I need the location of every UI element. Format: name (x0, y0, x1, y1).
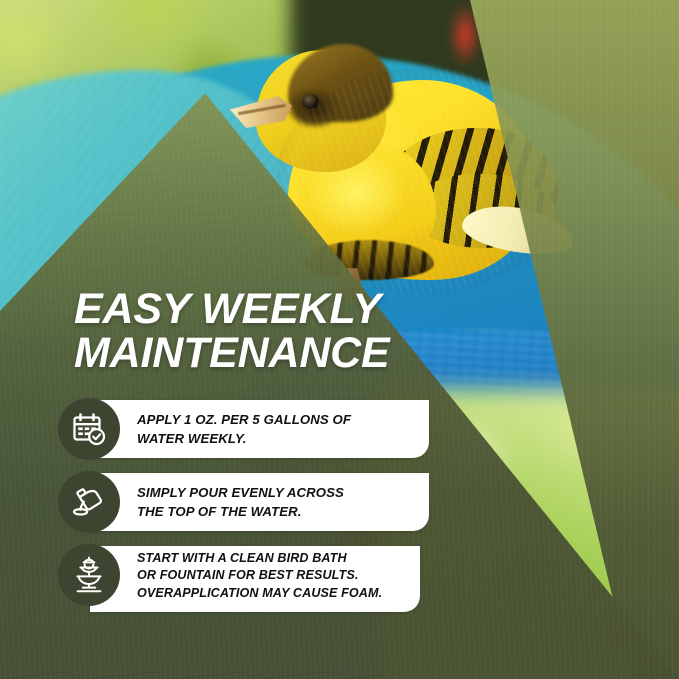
instruction-steps-list: APPLY 1 OZ. PER 5 GALLONS OF WATER WEEKL… (58, 400, 398, 606)
bird-eye (302, 94, 319, 109)
page-title: EASY WEEKLY MAINTENANCE (74, 287, 454, 376)
list-item: START WITH A CLEAN BIRD BATH OR FOUNTAIN… (58, 546, 398, 606)
pouring-bottle-icon (58, 471, 120, 533)
step-text: APPLY 1 OZ. PER 5 GALLONS OF WATER WEEKL… (137, 411, 351, 448)
bird-bath-fountain-icon (58, 544, 120, 606)
list-item: APPLY 1 OZ. PER 5 GALLONS OF WATER WEEKL… (58, 400, 398, 460)
step-text: SIMPLY POUR EVENLY ACROSS THE TOP OF THE… (137, 484, 344, 521)
step-text: START WITH A CLEAN BIRD BATH OR FOUNTAIN… (137, 550, 382, 602)
calendar-check-icon (58, 398, 120, 460)
product-feature-poster: EASY WEEKLY MAINTENANCE APP (0, 0, 679, 679)
list-item: SIMPLY POUR EVENLY ACROSS THE TOP OF THE… (58, 473, 398, 533)
